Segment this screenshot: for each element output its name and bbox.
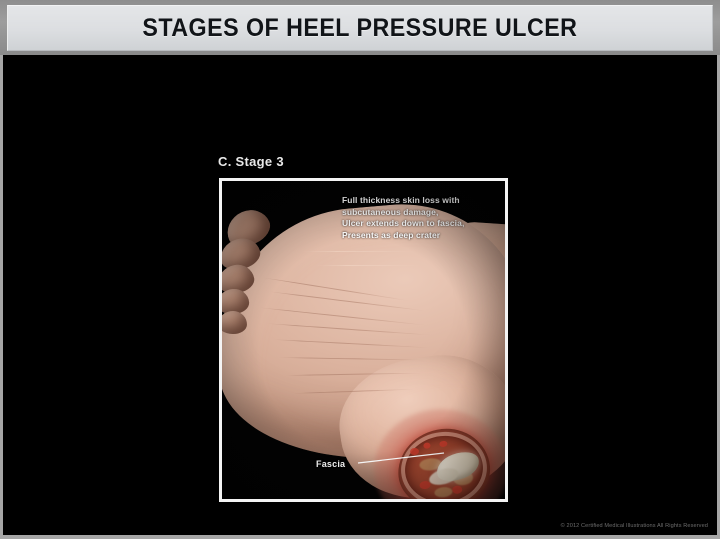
stage-description: Full thickness skin loss with subcutaneo… (342, 195, 464, 241)
header-bar: STAGES OF HEEL PRESSURE ULCER (7, 5, 713, 51)
panel-caption: C. Stage 3 (218, 154, 284, 169)
page-title: STAGES OF HEEL PRESSURE ULCER (142, 14, 577, 43)
description-line: Full thickness skin loss with (342, 195, 464, 207)
description-line: Ulcer extends down to fascia, (342, 218, 464, 230)
description-line: Presents as deep crater (342, 230, 464, 242)
stage-photo-frame: Full thickness skin loss with subcutaneo… (219, 178, 508, 502)
skin-highlight (314, 265, 422, 266)
copyright-notice: © 2012 Certified Medical Illustrations A… (561, 523, 708, 529)
poster-page: STAGES OF HEEL PRESSURE ULCER C. Stage 3 (0, 0, 720, 539)
header-bar-frame: STAGES OF HEEL PRESSURE ULCER (0, 0, 720, 55)
skin-highlight (300, 251, 420, 252)
illustration-canvas: C. Stage 3 (3, 55, 717, 535)
fascia-callout-label: Fascia (316, 459, 345, 469)
description-line: subcutaneous damage, (342, 207, 464, 219)
stage-photo: Full thickness skin loss with subcutaneo… (222, 181, 505, 499)
